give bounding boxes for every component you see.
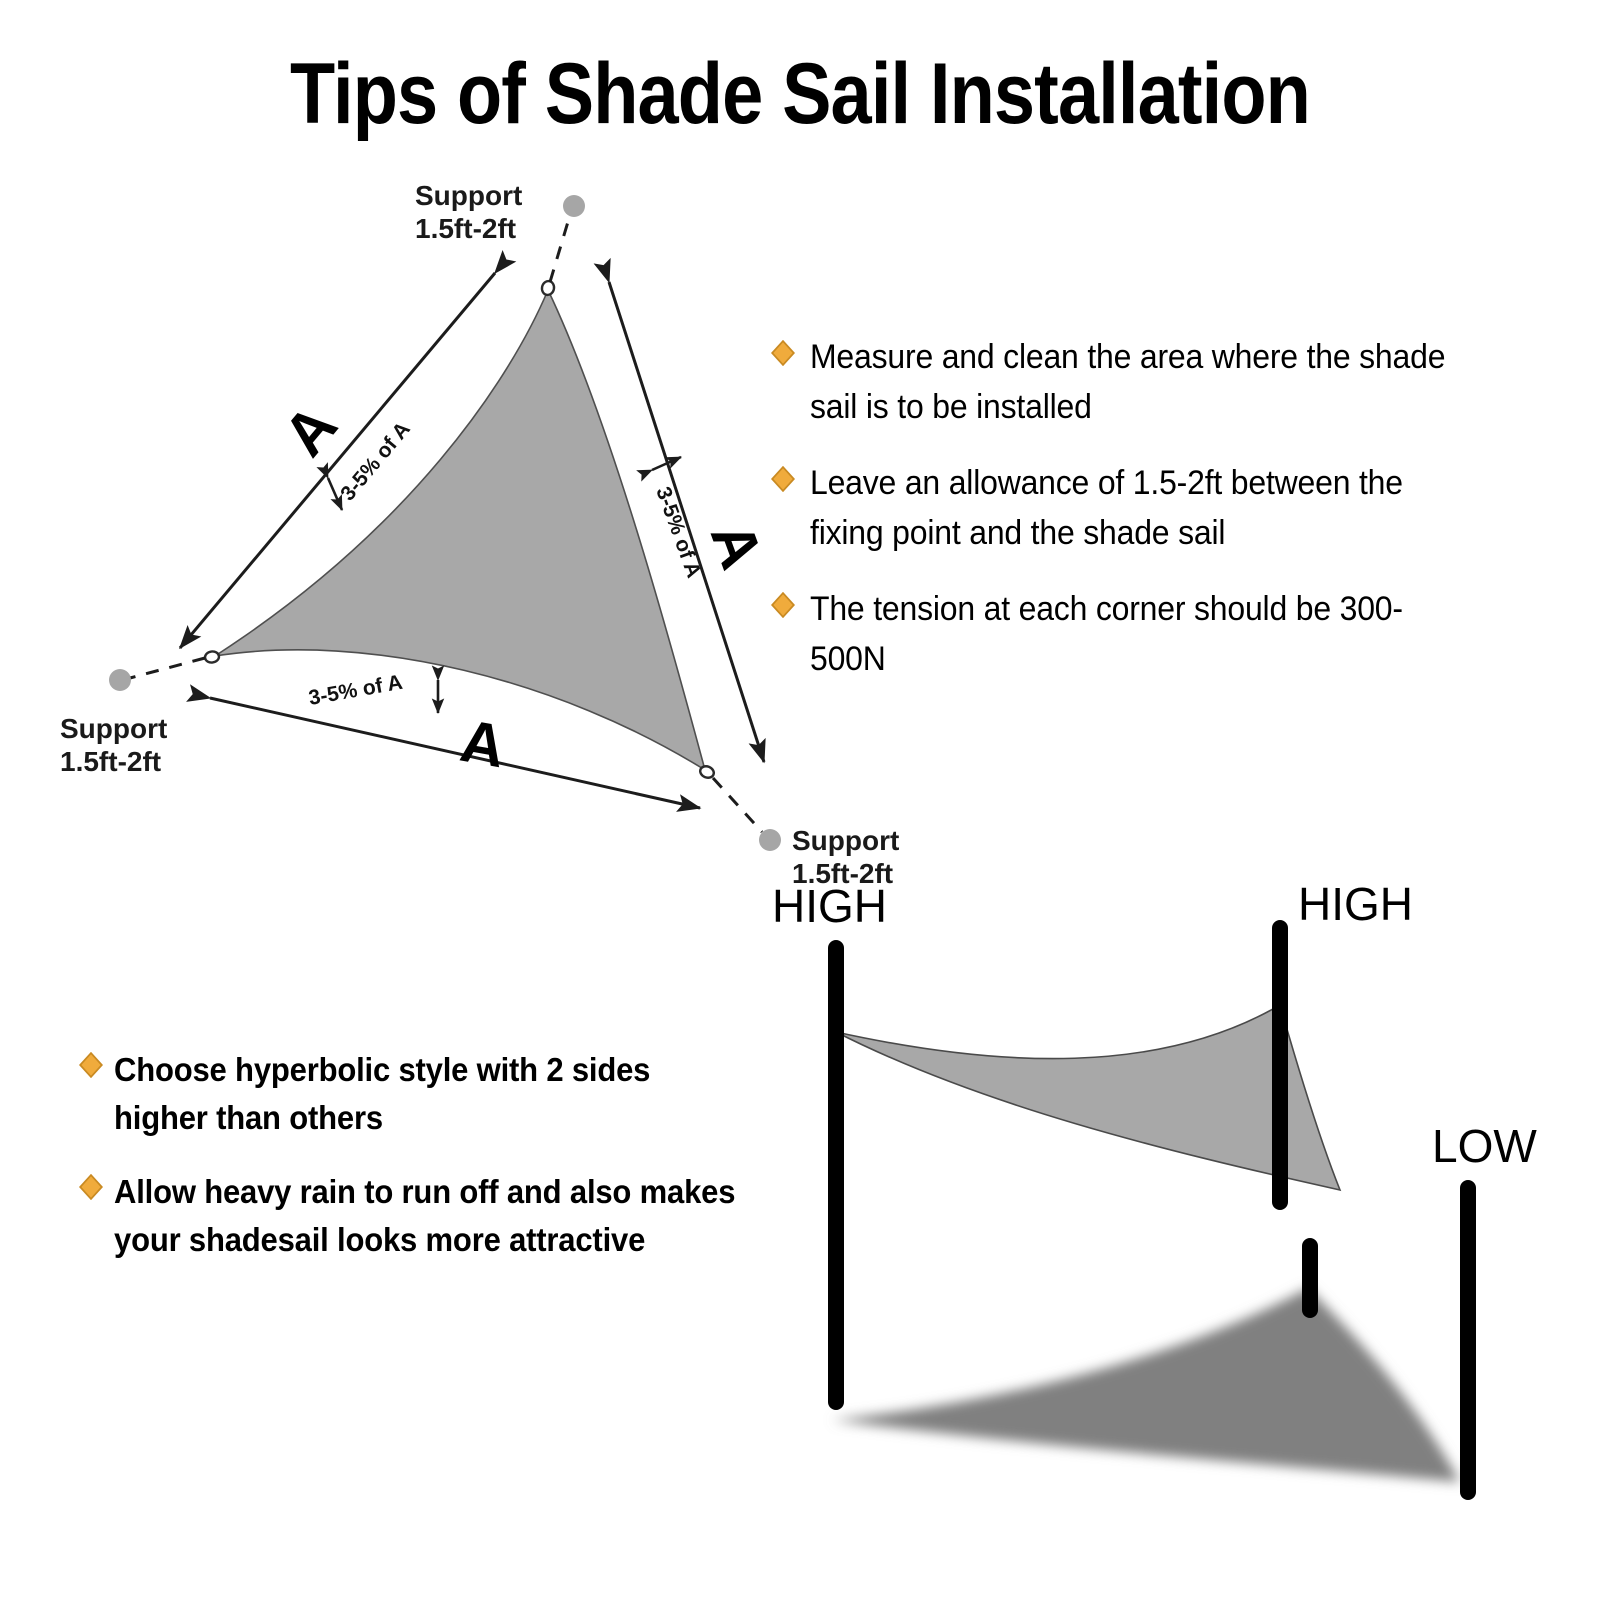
side-label-right: A [698, 514, 776, 578]
hyperbolic-shade-sail-diagram: HIGH HIGH LOW [760, 900, 1600, 1540]
post-label-right-high: HIGH [1298, 878, 1413, 930]
support-label-left: Support 1.5ft-2ft [60, 713, 167, 777]
curve-label-right: 3-5% of A [651, 484, 705, 581]
list-item-label: Choose hyperbolic style with 2 sides hig… [114, 1046, 738, 1142]
diamond-bullet-icon [78, 1052, 104, 1078]
list-item: Choose hyperbolic style with 2 sides hig… [78, 1046, 778, 1142]
list-item-label: The tension at each corner should be 300… [810, 584, 1468, 684]
post-left-high [828, 940, 844, 1410]
hyperbolic-sail-shape [836, 1005, 1340, 1190]
list-item: Leave an allowance of 1.5-2ft between th… [770, 458, 1510, 558]
support-label-top: Support 1.5ft-2ft [415, 180, 522, 244]
tips-list-right: Measure and clean the area where the sha… [770, 332, 1510, 710]
list-item: Allow heavy rain to run off and also mak… [78, 1168, 778, 1264]
curve-label-left: 3-5% of A [336, 418, 415, 505]
list-item-label: Leave an allowance of 1.5-2ft between th… [810, 458, 1468, 558]
side-label-bottom: A [456, 707, 510, 781]
support-left-line1: Support [60, 713, 167, 744]
support-br-line1: Support [792, 825, 899, 856]
support-top-line1: Support [415, 180, 522, 211]
post-label-left-high: HIGH [772, 880, 887, 932]
list-item: The tension at each corner should be 300… [770, 584, 1510, 684]
list-item: Measure and clean the area where the sha… [770, 332, 1510, 432]
curve-label-bottom: 3-5% of A [307, 671, 404, 710]
post-right-high [1272, 920, 1288, 1210]
list-item-label: Allow heavy rain to run off and also mak… [114, 1168, 738, 1264]
diamond-bullet-icon [78, 1174, 104, 1200]
diamond-bullet-icon [770, 466, 796, 492]
tips-list-left: Choose hyperbolic style with 2 sides hig… [78, 1046, 778, 1290]
support-top-line2: 1.5ft-2ft [415, 213, 516, 244]
side-label-left: A [271, 392, 350, 468]
ground-shadow [832, 1288, 1460, 1482]
diamond-bullet-icon [770, 592, 796, 618]
hyperbolic-diagram-svg: HIGH HIGH LOW [760, 900, 1600, 1540]
page-title: Tips of Shade Sail Installation [112, 48, 1488, 140]
support-left-line2: 1.5ft-2ft [60, 746, 161, 777]
diamond-bullet-icon [770, 340, 796, 366]
post-right-low [1460, 1180, 1476, 1500]
post-middle [1302, 1238, 1318, 1318]
list-item-label: Measure and clean the area where the sha… [810, 332, 1468, 432]
post-label-right-low: LOW [1432, 1120, 1537, 1172]
sail-shape [215, 290, 705, 770]
